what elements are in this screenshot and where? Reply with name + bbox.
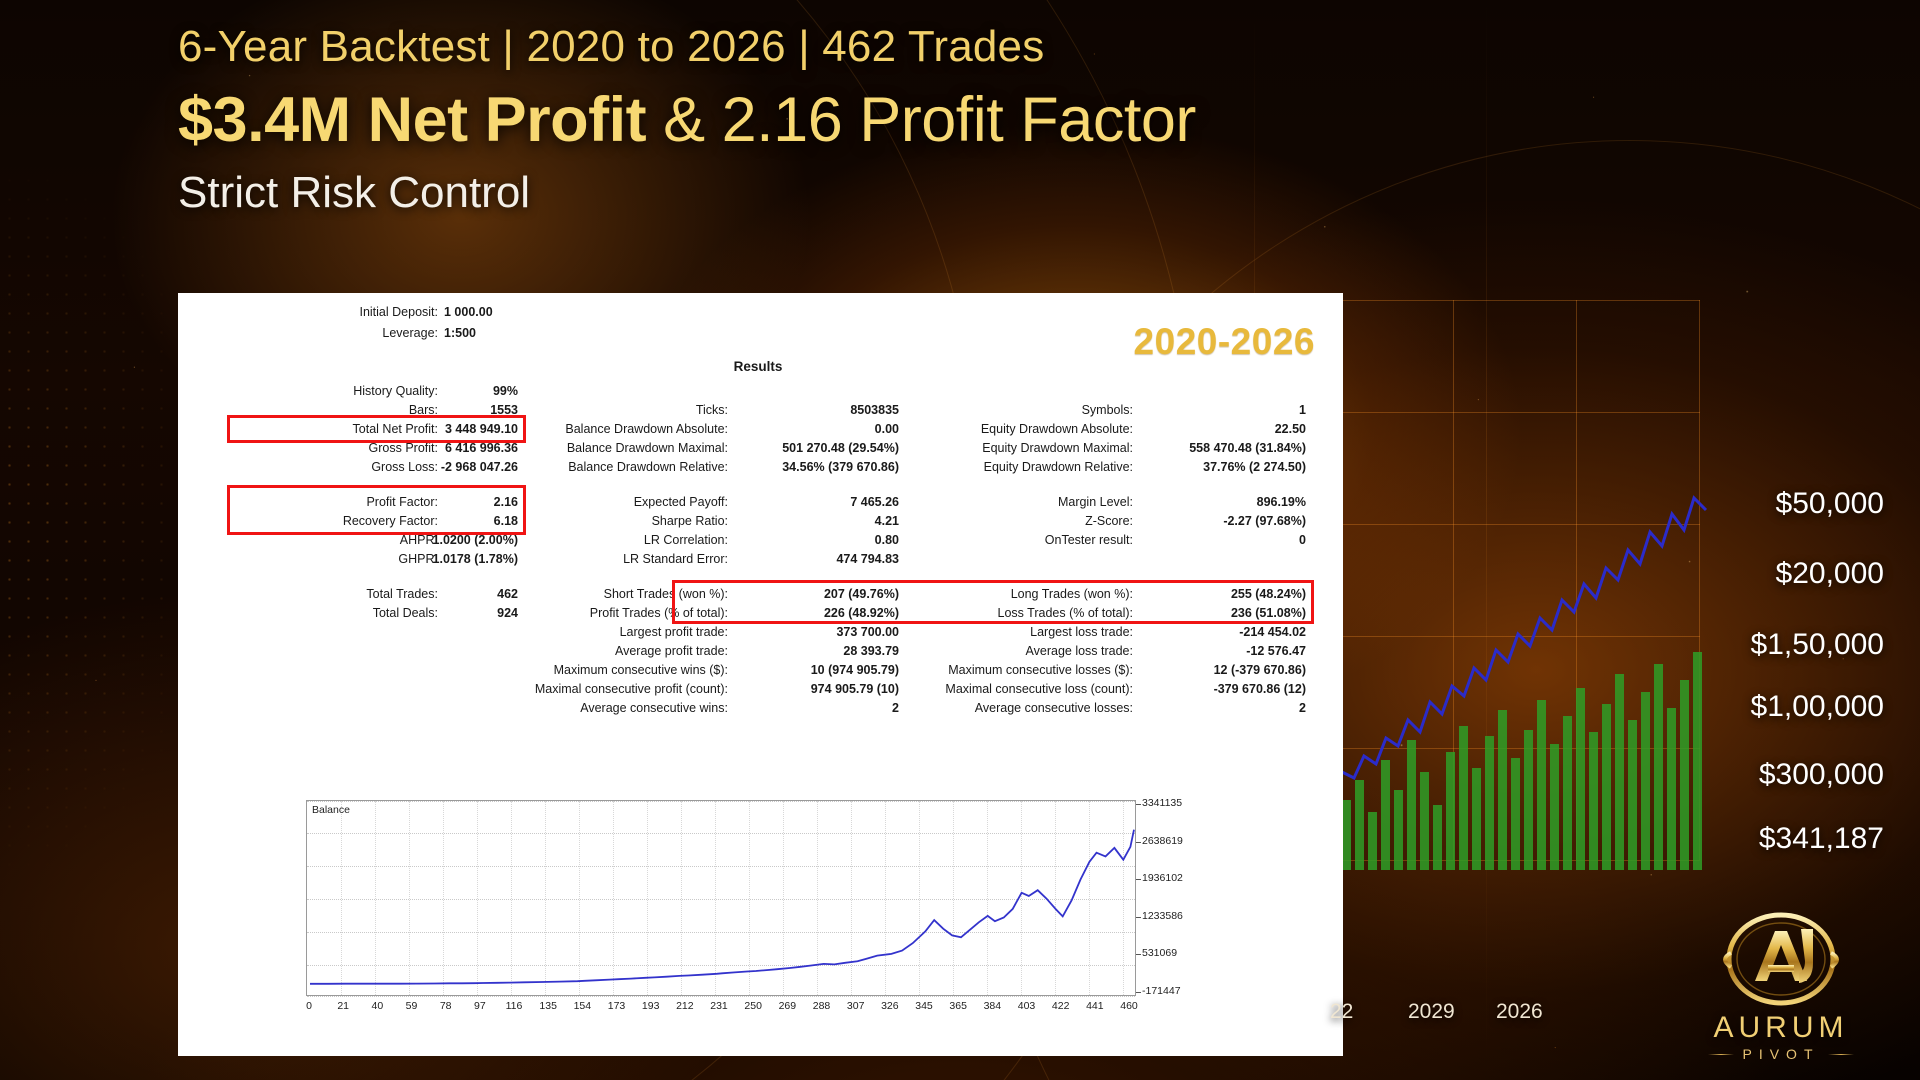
report-value: 99%: [440, 384, 518, 398]
report-value: 2: [1138, 701, 1306, 715]
report-label: Initial Deposit:: [238, 305, 438, 319]
report-label: Leverage:: [238, 326, 438, 340]
balance-chart-x-tick: 21: [337, 1000, 349, 1012]
report-value: 2: [734, 701, 899, 715]
report-label: Balance Drawdown Absolute:: [488, 422, 728, 436]
brand-tagline: PIVOT: [1676, 1046, 1886, 1062]
balance-chart-x-tick: 307: [847, 1000, 865, 1012]
report-section-title: Results: [678, 359, 838, 374]
report-label: Maximum consecutive losses ($):: [868, 663, 1133, 677]
price-label: $50,000: [1776, 487, 1884, 521]
report-label: Total Deals:: [248, 606, 438, 620]
report-label: Largest loss trade:: [878, 625, 1133, 639]
balance-chart-y-tickmark: [1136, 954, 1141, 955]
balance-chart-frame: Balance: [306, 800, 1136, 996]
report-label: Bars:: [248, 403, 438, 417]
report-label: Total Trades:: [248, 587, 438, 601]
report-label: Ticks:: [488, 403, 728, 417]
balance-chart-x-tick: 231: [710, 1000, 728, 1012]
timeline-year: 2026: [1496, 1000, 1543, 1024]
report-label: LR Correlation:: [488, 533, 728, 547]
price-label: $20,000: [1776, 557, 1884, 591]
report-label: Symbols:: [878, 403, 1133, 417]
report-label: Average consecutive wins:: [488, 701, 728, 715]
headline-tagline: Strict Risk Control: [178, 168, 1196, 218]
balance-chart-x-tick: 212: [676, 1000, 694, 1012]
report-value: 501 270.48 (29.54%): [734, 441, 899, 455]
report-label: Average profit trade:: [488, 644, 728, 658]
report-label: Maximal consecutive profit (count):: [438, 682, 728, 696]
balance-chart-x-tick: 40: [371, 1000, 383, 1012]
balance-chart: Balance 33411352638619193610212335865310…: [306, 800, 1241, 1028]
report-value: 226 (48.92%): [734, 606, 899, 620]
report-label: Average loss trade:: [878, 644, 1133, 658]
balance-chart-x-tick: 269: [779, 1000, 797, 1012]
report-value: 4.21: [734, 514, 899, 528]
balance-chart-x-tick: 78: [440, 1000, 452, 1012]
brand-logo: AURUM PIVOT: [1676, 905, 1886, 1062]
report-year-badge: 2020-2026: [1134, 321, 1315, 363]
timeline-year: 22: [1330, 1000, 1353, 1024]
report-label: Equity Drawdown Relative:: [878, 460, 1133, 474]
report-label: Gross Profit:: [238, 441, 438, 455]
balance-chart-y-tick: 3341135: [1142, 797, 1182, 809]
report-value: 28 393.79: [734, 644, 899, 658]
report-value: -12 576.47: [1138, 644, 1306, 658]
report-value: -379 670.86 (12): [1138, 682, 1306, 696]
balance-chart-x-tick: 441: [1086, 1000, 1104, 1012]
balance-chart-x-tick: 173: [608, 1000, 626, 1012]
report-label: Profit Factor:: [238, 495, 438, 509]
report-label: Loss Trades (% of total):: [878, 606, 1133, 620]
balance-chart-x-tick: 193: [642, 1000, 660, 1012]
report-label: Balance Drawdown Maximal:: [488, 441, 728, 455]
report-value: 207 (49.76%): [734, 587, 899, 601]
report-value: 373 700.00: [734, 625, 899, 639]
balance-chart-x-tick: 422: [1052, 1000, 1070, 1012]
report-label: Balance Drawdown Relative:: [488, 460, 728, 474]
balance-chart-x-tick: 384: [984, 1000, 1002, 1012]
timeline-year: 2029: [1408, 1000, 1455, 1024]
report-label: Profit Trades (% of total):: [488, 606, 728, 620]
report-label: Average consecutive losses:: [878, 701, 1133, 715]
report-value: 1: [1138, 403, 1306, 417]
report-value: -2.27 (97.68%): [1138, 514, 1306, 528]
balance-chart-y-tick: 1936102: [1142, 872, 1183, 884]
report-value: 0: [1138, 533, 1306, 547]
report-value: 1 000.00: [444, 305, 534, 319]
report-label: Long Trades (won %):: [878, 587, 1133, 601]
report-value: -214 454.02: [1138, 625, 1306, 639]
report-label: Z-Score:: [878, 514, 1133, 528]
brand-tagline-text: PIVOT: [1742, 1046, 1819, 1062]
report-label: Largest profit trade:: [488, 625, 728, 639]
balance-chart-x-tick: 154: [574, 1000, 592, 1012]
price-label: $1,00,000: [1751, 690, 1884, 724]
report-label: Equity Drawdown Maximal:: [878, 441, 1133, 455]
report-label: Margin Level:: [878, 495, 1133, 509]
balance-chart-x-tick: 326: [881, 1000, 899, 1012]
price-label: $300,000: [1759, 758, 1884, 792]
balance-chart-x-tick: 116: [506, 1000, 523, 1012]
price-label: $1,50,000: [1751, 628, 1884, 662]
balance-chart-y-tickmark: [1136, 992, 1141, 993]
balance-chart-x-tick: 59: [406, 1000, 418, 1012]
report-value: 0.00: [734, 422, 899, 436]
balance-chart-x-tick: 345: [915, 1000, 933, 1012]
balance-chart-x-tick: 365: [949, 1000, 967, 1012]
report-label: Equity Drawdown Absolute:: [878, 422, 1133, 436]
headline-main: $3.4M Net Profit & 2.16 Profit Factor: [178, 84, 1196, 156]
report-label: Total Net Profit:: [238, 422, 438, 436]
headline-subtitle: 6-Year Backtest | 2020 to 2026 | 462 Tra…: [178, 22, 1196, 72]
balance-chart-line: [307, 801, 1137, 997]
background-price-line: [1330, 480, 1710, 810]
balance-chart-y-tick: -171447: [1142, 985, 1181, 997]
backtest-report-panel: 2020-2026 Results Initial Deposit: 1 000…: [178, 293, 1343, 1056]
report-label: Maximal consecutive loss (count):: [868, 682, 1133, 696]
report-label: Short Trades (won %):: [488, 587, 728, 601]
balance-chart-y-tickmark: [1136, 879, 1141, 880]
report-value: 1:500: [444, 326, 534, 340]
report-label: History Quality:: [248, 384, 438, 398]
balance-chart-x-tick: 97: [474, 1000, 486, 1012]
report-value: 22.50: [1138, 422, 1306, 436]
brand-monogram-icon: [1715, 905, 1847, 1009]
report-value: 255 (48.24%): [1138, 587, 1306, 601]
report-label: OnTester result:: [878, 533, 1133, 547]
report-label: LR Standard Error:: [488, 552, 728, 566]
report-label: Recovery Factor:: [238, 514, 438, 528]
headline-main-strong: $3.4M Net Profit: [178, 85, 646, 155]
report-value: 12 (-379 670.86): [1138, 663, 1306, 677]
report-value: 896.19%: [1138, 495, 1306, 509]
balance-chart-y-tickmark: [1136, 804, 1141, 805]
report-value: 7 465.26: [734, 495, 899, 509]
headline-block: 6-Year Backtest | 2020 to 2026 | 462 Tra…: [178, 22, 1196, 218]
brand-name: AURUM: [1676, 1011, 1886, 1045]
balance-chart-y-tick: 2638619: [1142, 835, 1183, 847]
balance-chart-y-tickmark: [1136, 917, 1141, 918]
balance-chart-x-tick: 288: [813, 1000, 831, 1012]
balance-chart-y-tick: 1233586: [1142, 910, 1183, 922]
report-value: 474 794.83: [734, 552, 899, 566]
balance-chart-x-tick: 135: [539, 1000, 557, 1012]
report-value: 37.76% (2 274.50): [1138, 460, 1306, 474]
report-value: 558 470.48 (31.84%): [1138, 441, 1306, 455]
report-value: 0.80: [734, 533, 899, 547]
balance-chart-y-tick: 531069: [1142, 947, 1177, 959]
balance-chart-y-tickmark: [1136, 842, 1141, 843]
report-label: Sharpe Ratio:: [488, 514, 728, 528]
price-label: $341,187: [1759, 822, 1884, 856]
report-value: 34.56% (379 670.86): [734, 460, 899, 474]
balance-chart-x-tick: 0: [306, 1000, 312, 1012]
report-value: 236 (51.08%): [1138, 606, 1306, 620]
report-label: Gross Loss:: [238, 460, 438, 474]
report-label: Maximum consecutive wins ($):: [458, 663, 728, 677]
report-label: Expected Payoff:: [488, 495, 728, 509]
headline-main-rest: & 2.16 Profit Factor: [646, 85, 1196, 155]
balance-chart-x-tick: 403: [1018, 1000, 1036, 1012]
balance-chart-x-tick: 460: [1120, 1000, 1138, 1012]
report-value: 8503835: [734, 403, 899, 417]
balance-chart-x-tick: 250: [744, 1000, 762, 1012]
